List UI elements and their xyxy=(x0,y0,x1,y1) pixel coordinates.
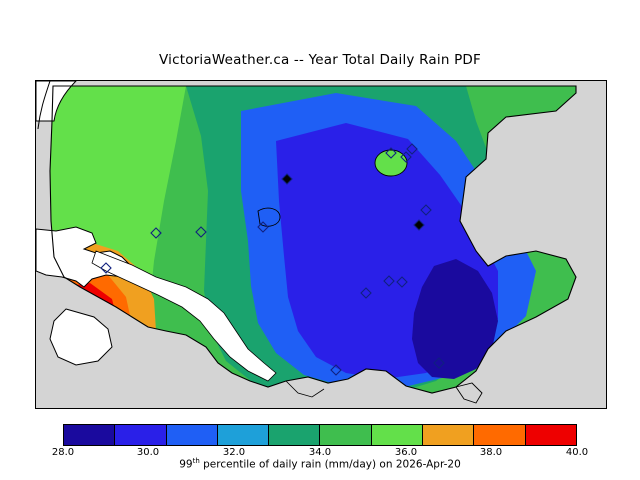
map-page: VictoriaWeather.ca -- Year Total Daily R… xyxy=(0,0,640,480)
caption-prefix: 99 xyxy=(179,459,192,471)
colorbar-caption: 99th percentile of daily rain (mm/day) o… xyxy=(0,457,640,471)
colorbar-segment-7 xyxy=(423,425,474,445)
colorbar-segment-2 xyxy=(167,425,218,445)
colorbar-segment-5 xyxy=(320,425,371,445)
colorbar-segment-6 xyxy=(372,425,423,445)
colorbar-segment-9 xyxy=(526,425,576,445)
colorbar-segment-4 xyxy=(269,425,320,445)
map-panel[interactable] xyxy=(35,80,607,409)
colorbar-segment-3 xyxy=(218,425,269,445)
caption-suffix: percentile of daily rain (mm/day) on 202… xyxy=(200,459,461,471)
map-canvas xyxy=(36,81,606,408)
colorbar-segment-1 xyxy=(115,425,166,445)
page-title: VictoriaWeather.ca -- Year Total Daily R… xyxy=(0,52,640,68)
colorbar[interactable] xyxy=(63,424,577,446)
colorbar-segment-0 xyxy=(64,425,115,445)
colorbar-segment-8 xyxy=(474,425,525,445)
caption-superscript: th xyxy=(193,457,200,465)
